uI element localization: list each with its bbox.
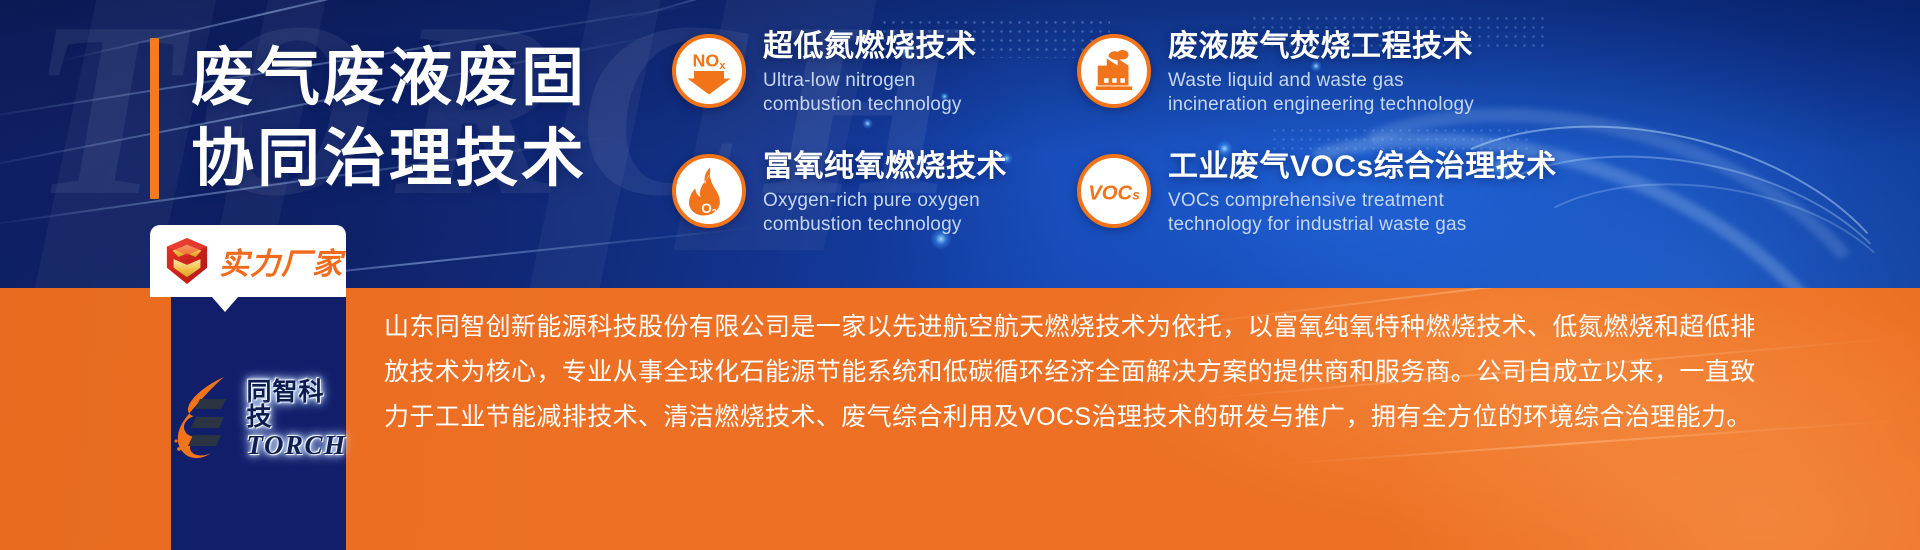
torch-flame-icon	[170, 373, 244, 465]
feature-title-cn: 废液废气焚烧工程技术	[1168, 30, 1474, 65]
feature-list: NOx 超低氮燃烧技术 Ultra-low nitrogen combustio…	[672, 30, 1852, 256]
feature-title-en: Waste liquid and waste gas incineration …	[1168, 69, 1474, 118]
title-line-2: 协同治理技术	[191, 119, 587, 200]
feature-title-en: Oxygen-rich pure oxygen combustion techn…	[763, 189, 1007, 238]
banner-title: 废气废液废固 协同治理技术	[150, 38, 587, 199]
strength-manufacturer-badge[interactable]: 实力厂家	[150, 225, 346, 297]
nox-arrow-icon: NOx	[672, 34, 746, 108]
company-description: 山东同智创新能源科技股份有限公司是一家以先进航空航天燃烧技术为依托，以富氧纯氧特…	[384, 305, 1774, 440]
medal-shield-icon	[164, 236, 210, 286]
feature-title-cn: 超低氮燃烧技术	[763, 30, 977, 65]
logo-name-cn: 同智科技	[246, 380, 346, 430]
title-accent-bar	[150, 38, 159, 199]
badge-label: 实力厂家	[219, 239, 343, 283]
flame-o2-icon: O2	[672, 154, 746, 228]
feature-title-en: VOCs comprehensive treatment technology …	[1168, 189, 1557, 238]
svg-text:NOx: NOx	[693, 50, 727, 72]
feature-item-vocs-treatment[interactable]: VOCs 工业废气VOCs综合治理技术 VOCs comprehensive t…	[1077, 150, 1852, 256]
vocs-icon: VOCs	[1077, 154, 1151, 228]
company-logo-panel[interactable]: 同智科技 TORCH	[171, 288, 346, 550]
feature-item-oxygen-rich-combustion[interactable]: O2 富氧纯氧燃烧技术 Oxygen-rich pure oxygen comb…	[672, 150, 1067, 256]
feature-title-en: Ultra-low nitrogen combustion technology	[763, 69, 977, 118]
svg-text:VOCs: VOCs	[1088, 183, 1140, 205]
factory-icon	[1077, 34, 1151, 108]
feature-title-cn: 富氧纯氧燃烧技术	[763, 150, 1007, 185]
feature-title-cn: 工业废气VOCs综合治理技术	[1168, 150, 1557, 185]
logo-name-en: TORCH	[246, 432, 346, 459]
feature-item-waste-incineration[interactable]: 废液废气焚烧工程技术 Waste liquid and waste gas in…	[1077, 30, 1852, 136]
badge-notch	[212, 297, 238, 312]
promo-banner: TORCH 废气废液废固 协同治理技术 NOx	[0, 0, 1920, 550]
title-line-1: 废气废液废固	[191, 38, 587, 119]
feature-item-ultra-low-nitrogen[interactable]: NOx 超低氮燃烧技术 Ultra-low nitrogen combustio…	[672, 30, 1067, 136]
